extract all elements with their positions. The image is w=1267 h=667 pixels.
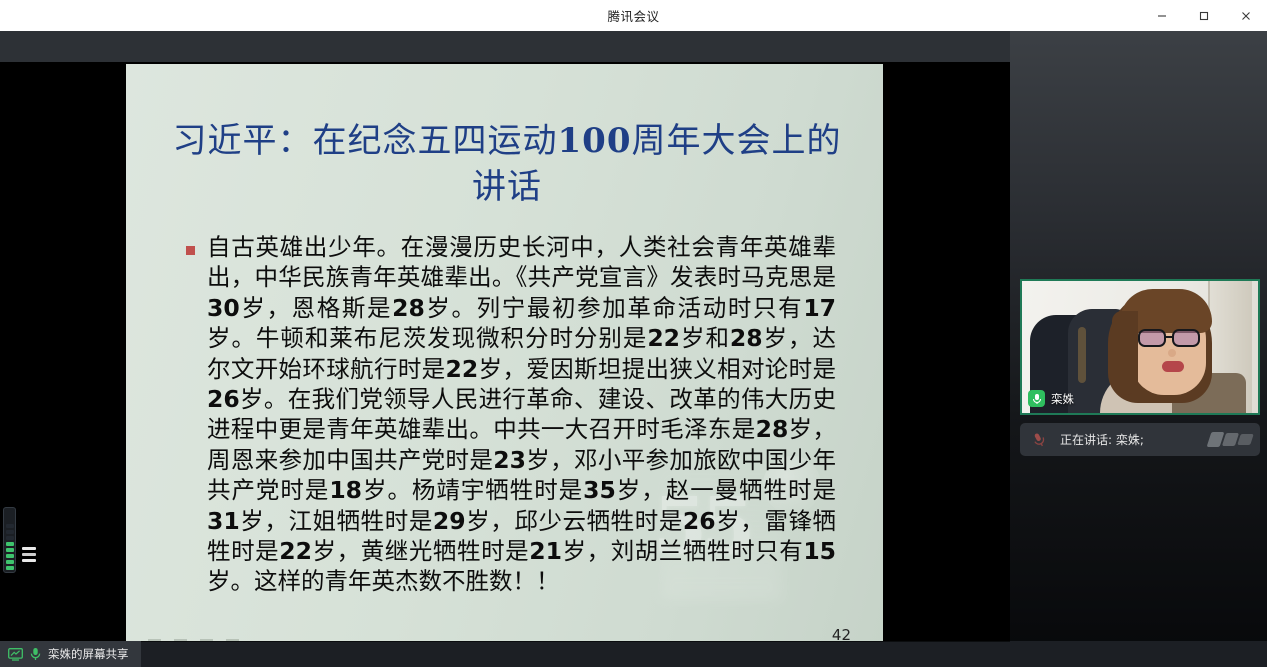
video-person-hair-side (1112, 311, 1138, 395)
maximize-icon (1198, 10, 1210, 22)
window-title: 腾讯会议 (607, 6, 659, 25)
floating-mini-toolbar[interactable] (0, 507, 34, 589)
minimize-button[interactable] (1141, 0, 1183, 31)
microphone-active-glyph (1031, 431, 1047, 449)
audio-level-meter-icon (3, 507, 16, 573)
window-controls (1141, 0, 1267, 31)
screen-share-icon (8, 648, 23, 661)
window-title-bar[interactable]: 腾讯会议 (0, 0, 1267, 31)
taskbar-divider (0, 641, 1010, 642)
slide-title: 习近平：在纪念五四运动100周年大会上的讲话 (162, 119, 852, 211)
close-icon (1240, 10, 1252, 22)
powerpoint-slide[interactable]: 55 习近平：在纪念五四运动100周年大会上的讲话 自古英雄出少年。在漫漫历史长… (126, 64, 883, 662)
tencent-meeting-window: 腾讯会议 (0, 0, 1267, 667)
slide-title-number: 100 (558, 121, 632, 161)
video-person-glasses (1138, 329, 1208, 347)
video-chair-strap (1078, 327, 1086, 383)
participant-video-tile[interactable]: 栾姝 (1020, 279, 1260, 415)
active-speaker-text: 正在讲话: 栾姝; (1060, 431, 1144, 448)
microphone-active-icon (1028, 429, 1050, 451)
taskbar-screenshare-item[interactable]: 栾姝的屏幕共享 (0, 641, 141, 667)
video-person-lips (1162, 361, 1184, 372)
bullet-square-icon (186, 246, 195, 255)
video-person-nose (1168, 349, 1176, 357)
slide-title-part1: 习近平：在纪念五四运动 (173, 121, 558, 161)
shared-screen-topbar (0, 31, 1010, 62)
minimize-icon (1156, 10, 1168, 22)
bottom-taskbar: 栾姝的屏幕共享 (0, 641, 1267, 667)
slide-body: 自古英雄出少年。在漫漫历史长河中，人类社会青年英雄辈出，中华民族青年英雄辈出。《… (186, 232, 836, 597)
menu-list-icon[interactable] (22, 547, 36, 565)
maximize-button[interactable] (1183, 0, 1225, 31)
participant-video-panel: 栾姝 正在讲话: 栾姝; (1010, 31, 1267, 667)
close-button[interactable] (1225, 0, 1267, 31)
microphone-icon (30, 647, 41, 661)
slide-body-paragraph: 自古英雄出少年。在漫漫历史长河中，人类社会青年英雄辈出，中华民族青年英雄辈出。《… (207, 232, 836, 597)
microphone-glyph (1032, 393, 1042, 405)
microphone-on-icon (1028, 390, 1045, 407)
shared-screen-region[interactable]: 55 习近平：在纪念五四运动100周年大会上的讲话 自古英雄出少年。在漫漫历史长… (0, 31, 1010, 667)
active-speaker-bar[interactable]: 正在讲话: 栾姝; (1020, 423, 1260, 456)
video-tile-name-badge: 栾姝 (1026, 388, 1080, 409)
audio-wave-icon (1209, 432, 1252, 447)
taskbar-item-label: 栾姝的屏幕共享 (48, 646, 129, 662)
video-tile-participant-name: 栾姝 (1051, 391, 1074, 407)
